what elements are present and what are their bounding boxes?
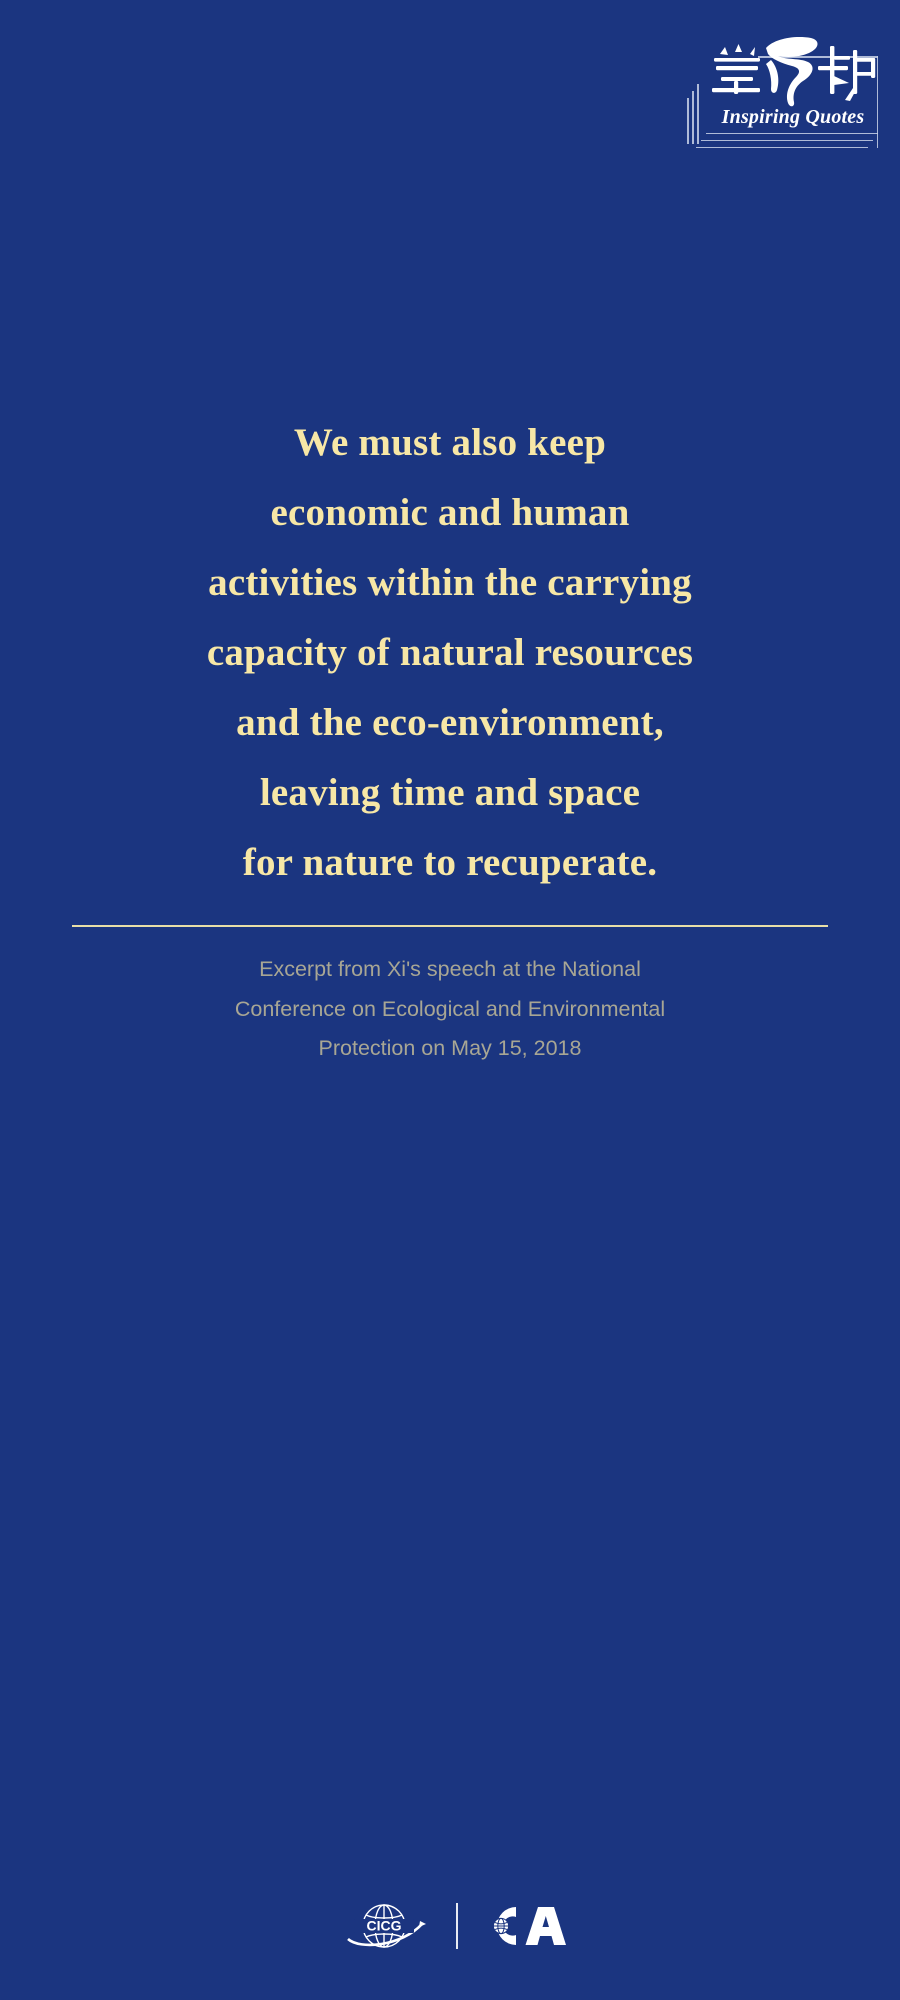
quote-line: capacity of natural resources [0, 618, 900, 688]
ca-logo [480, 1903, 566, 1949]
brand-tagline: Inspiring Quotes [710, 106, 876, 129]
attribution-line: Excerpt from Xi's speech at the National [259, 957, 641, 981]
brand-logo: Inspiring Quotes [688, 18, 878, 148]
quote-line: economic and human [0, 478, 900, 548]
attribution-line: Conference on Ecological and Environment… [235, 997, 665, 1021]
attribution-text: Excerpt from Xi's speech at the National… [90, 950, 810, 1069]
attribution-line: Protection on May 15, 2018 [319, 1036, 582, 1060]
footer-logos: CICG [0, 1896, 900, 1956]
cicg-wordmark: CICG [367, 1918, 402, 1934]
quote-line: leaving time and space [0, 758, 900, 828]
quote-line: for nature to recuperate. [0, 828, 900, 898]
brand-frame-bottom-bars [696, 132, 878, 148]
brand-wordmark-chinese [708, 32, 878, 112]
quote-line: We must also keep [0, 408, 900, 478]
quote-text: We must also keep economic and human act… [0, 408, 900, 898]
quote-line: and the eco-environment, [0, 688, 900, 758]
cicg-logo: CICG [334, 1898, 434, 1954]
divider [72, 925, 828, 927]
footer-logo-separator [456, 1903, 458, 1949]
quote-line: activities within the carrying [0, 548, 900, 618]
